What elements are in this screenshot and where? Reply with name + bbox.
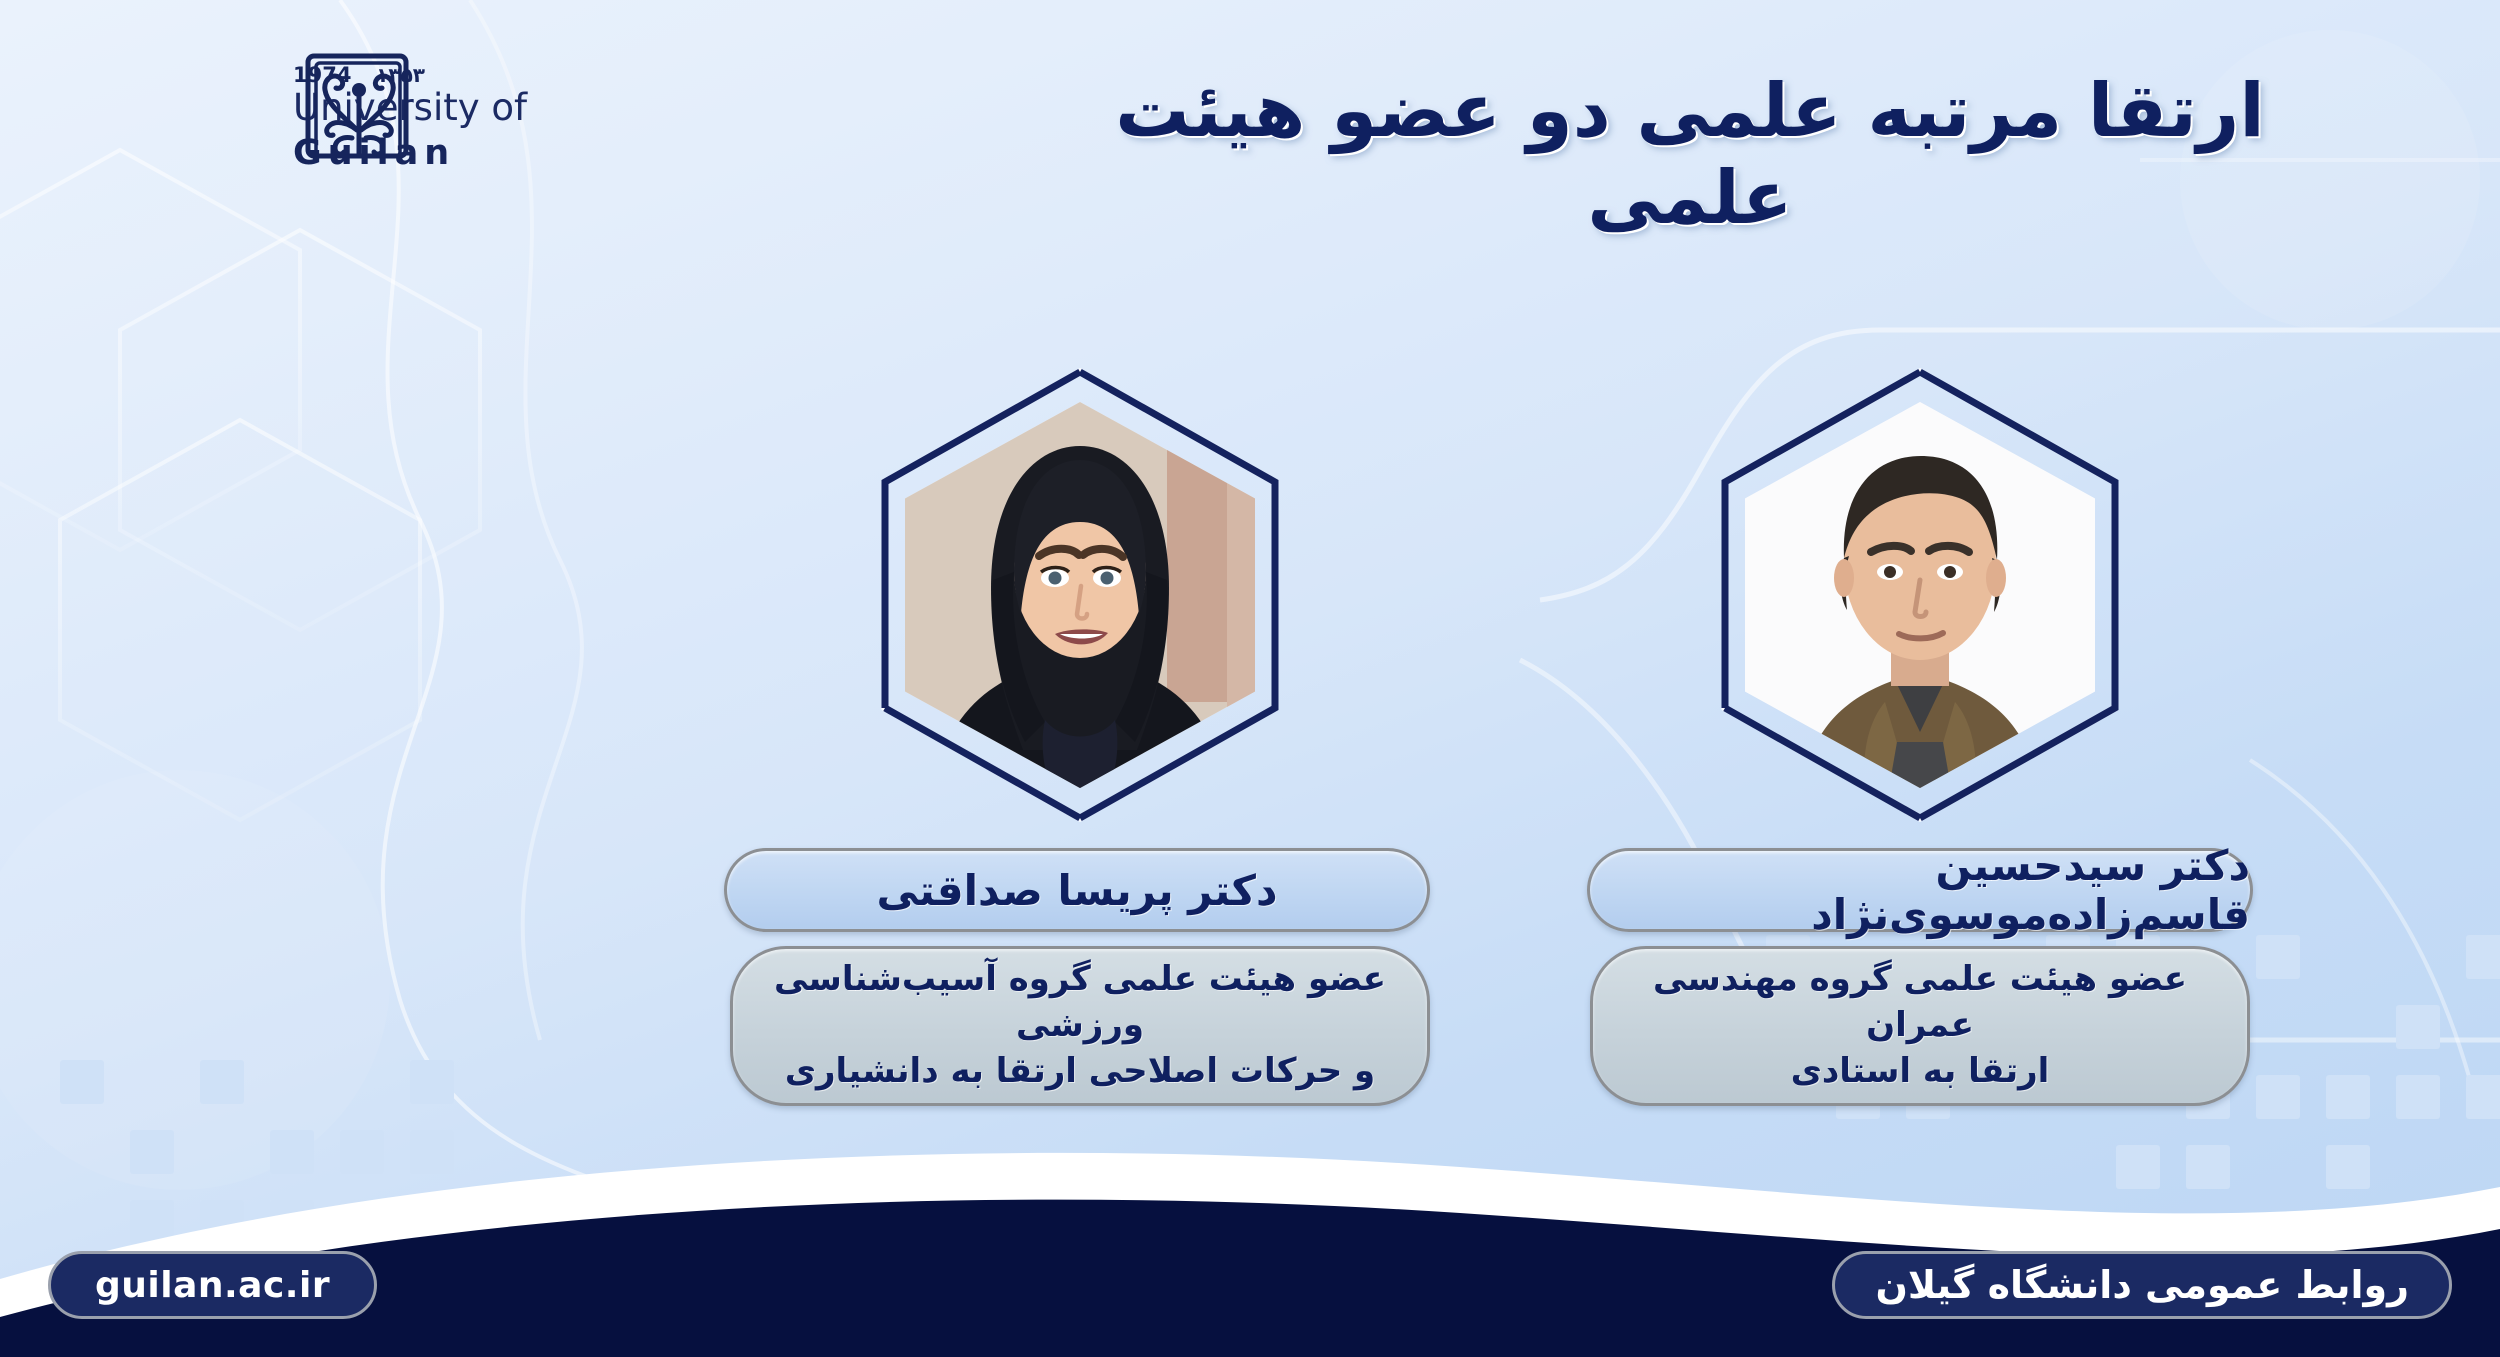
person-name: دکتر پریسا صداقتی [724,848,1430,932]
university-logo[interactable]: 1974 University of Guilan ۱۳۵۳ [95,38,555,168]
logo-persian-name: دانشگاه گیلان [553,111,555,151]
person-card: دکتر پریسا صداقتی عضو هیئت علمی گروه آسی… [730,360,1430,1106]
avatar [1705,360,2135,830]
logo-year-persian: ۱۳۵۳ [376,63,425,87]
person-card: دکتر سیدحسین قاسم‌زاده‌موسوی‌نژاد عضو هی… [1570,360,2270,1106]
logo-line1-latin: University of [293,86,528,129]
poster-canvas: 1974 University of Guilan ۱۳۵۳ [0,0,2500,1357]
avatar [865,360,1295,830]
public-relations-badge: روابط عمومی دانشگاه گیلان [1832,1251,2452,1319]
university-of-guilan-logo-icon: 1974 University of Guilan ۱۳۵۳ [95,38,555,170]
website-url-badge[interactable]: guilan.ac.ir [48,1251,377,1319]
person-name: دکتر سیدحسین قاسم‌زاده‌موسوی‌نژاد [1587,848,2253,932]
page-title: ارتقا مرتبه علمی دو عضو هیئت علمی [1000,68,2380,243]
